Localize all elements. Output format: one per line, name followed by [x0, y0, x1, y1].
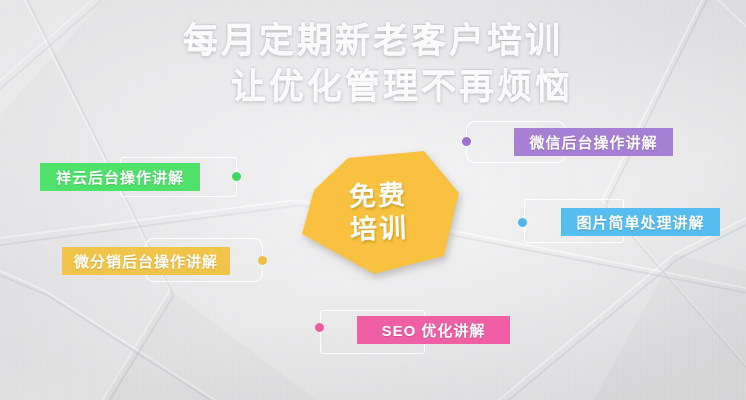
label-tupian-text: 图片简单处理讲解 [576, 212, 704, 233]
label-weixin-text: 微信后台操作讲解 [529, 132, 657, 153]
connector-dot-tupian [518, 218, 527, 227]
label-tupian[interactable]: 图片简单处理讲解 [561, 208, 720, 236]
promo-banner: 每月定期新老客户培训 让优化管理不再烦恼 免费 培训 祥云后台操作讲解 [0, 0, 746, 400]
label-weixin[interactable]: 微信后台操作讲解 [514, 128, 673, 156]
connector-dot-seo [315, 323, 324, 332]
label-weifenxiao[interactable]: 微分销后台操作讲解 [62, 247, 230, 275]
label-weifenxiao-text: 微分销后台操作讲解 [74, 251, 218, 272]
hexagon-shape [302, 151, 459, 274]
connector-dot-weixin [462, 137, 471, 146]
connector-dot-xiangyun [232, 172, 241, 181]
label-seo[interactable]: SEO 优化讲解 [357, 316, 510, 344]
label-seo-text: SEO 优化讲解 [382, 320, 486, 341]
label-xiangyun[interactable]: 祥云后台操作讲解 [40, 163, 200, 191]
connector-dot-weifenxiao [258, 256, 267, 265]
free-training-hexagon[interactable]: 免费 培训 [296, 148, 461, 278]
label-xiangyun-text: 祥云后台操作讲解 [56, 167, 184, 188]
